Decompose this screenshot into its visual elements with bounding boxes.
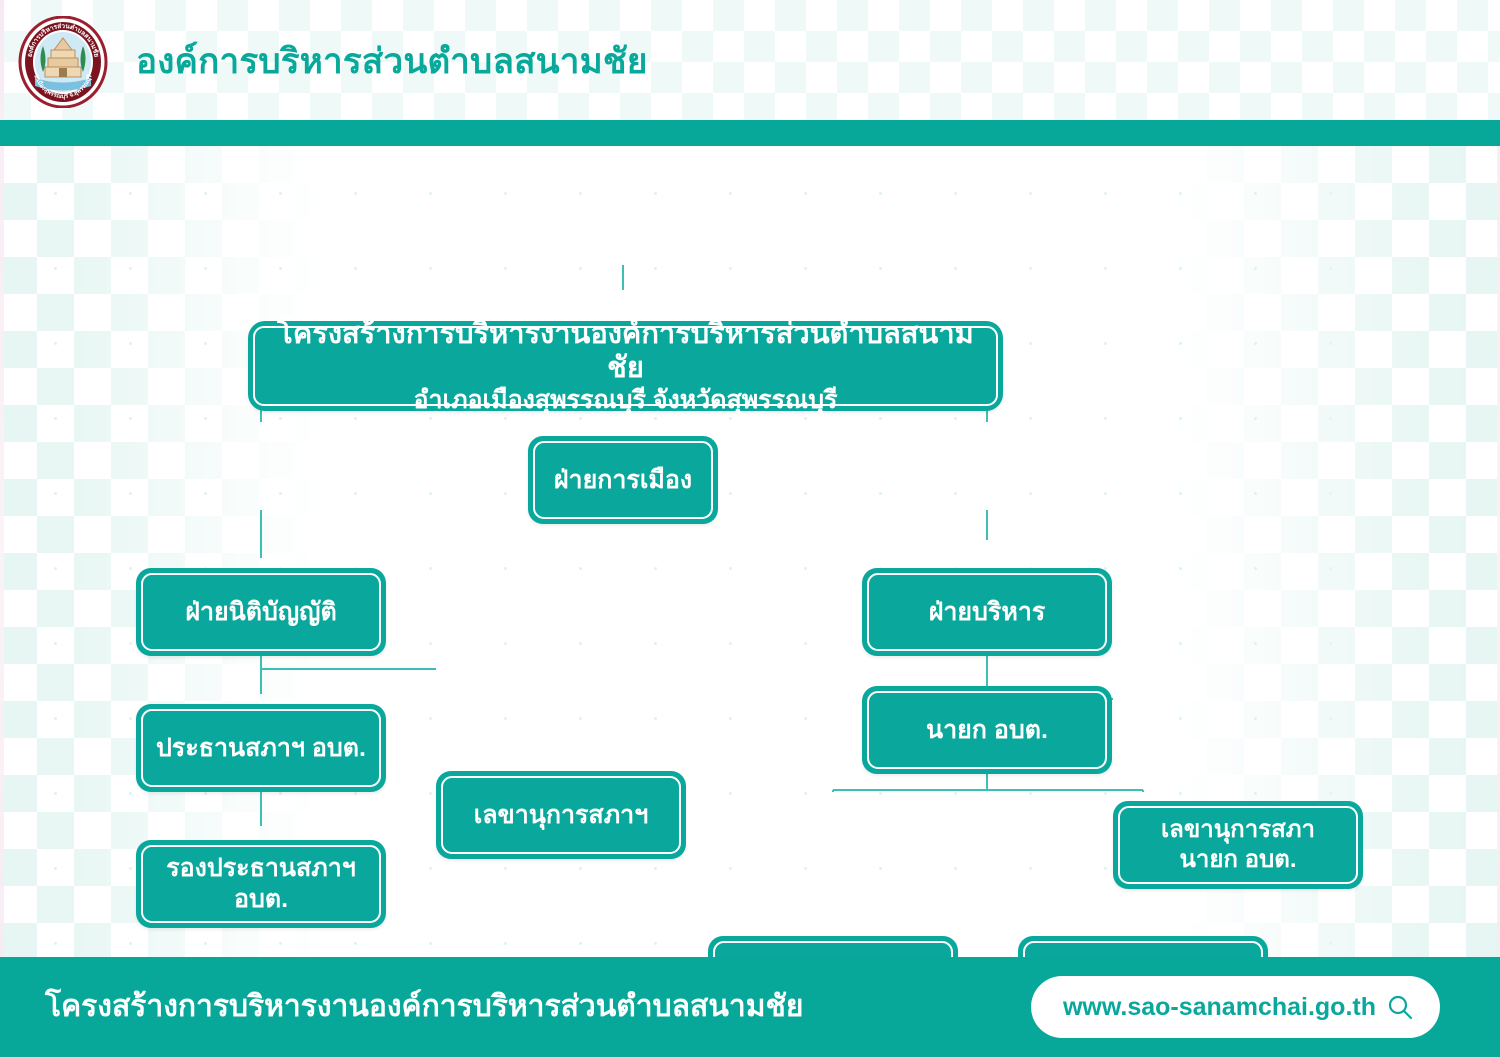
chart-title-line1: โครงสร้างการบริหารงานองค์การบริหารส่วนตำ… (268, 317, 983, 385)
node-mayor-label: นายก อบต. (862, 686, 1112, 774)
node-political-division-label: ฝ่ายการเมือง (528, 436, 718, 524)
chart-title-label: โครงสร้างการบริหารงานองค์การบริหารส่วนตำ… (248, 321, 1003, 411)
footer-title: โครงสร้างการบริหารงานองค์การบริหารส่วนตำ… (45, 987, 803, 1027)
node-vice-chairman[interactable]: รองประธานสภาฯ อบต. (136, 840, 386, 928)
node-council-chairman-label: ประธานสภาฯ อบต. (136, 704, 386, 792)
site-footer: โครงสร้างการบริหารงานองค์การบริหารส่วนตำ… (0, 957, 1500, 1057)
node-legislative-division[interactable]: ฝ่ายนิติบัญญัติ (136, 568, 386, 656)
footer-url-pill[interactable]: www.sao-sanamchai.go.th (1031, 976, 1440, 1038)
search-icon[interactable] (1386, 993, 1414, 1021)
node-executive-division-label: ฝ่ายบริหาร (862, 568, 1112, 656)
emblem-logo-icon[interactable]: องค์การบริหารส่วนตำบลสนามชัย อ.เมืองสุพร… (17, 16, 109, 108)
site-title: องค์การบริหารส่วนตำบลสนามชัย (136, 40, 648, 84)
node-political-division[interactable]: ฝ่ายการเมือง (528, 436, 718, 524)
node-council-secretary-label: เลขานุการสภาฯ (436, 771, 686, 859)
node-executive-division[interactable]: ฝ่ายบริหาร (862, 568, 1112, 656)
header-divider-bar (0, 120, 1500, 146)
node-council-secretary[interactable]: เลขานุการสภาฯ (436, 771, 686, 859)
header-left-edge-accent (0, 0, 4, 120)
node-deputy-mayor-1[interactable]: รองนายก อบต. (708, 936, 958, 957)
node-mayor-secretary[interactable]: เลขานุการสภา นายก อบต. (1113, 801, 1363, 889)
node-vice-chairman-label: รองประธานสภาฯ อบต. (136, 840, 386, 928)
footer-url-text: www.sao-sanamchai.go.th (1063, 992, 1376, 1022)
chart-title-node: โครงสร้างการบริหารงานองค์การบริหารส่วนตำ… (248, 321, 1003, 411)
node-deputy-mayor-2-label: รองนายก อบต. (1018, 936, 1268, 957)
node-deputy-mayor-1-label: รองนายก อบต. (708, 936, 958, 957)
page-root: องค์การบริหารส่วนตำบลสนามชัย อ.เมืองสุพร… (0, 0, 1500, 1057)
site-header: องค์การบริหารส่วนตำบลสนามชัย อ.เมืองสุพร… (0, 0, 1500, 120)
node-deputy-mayor-2[interactable]: รองนายก อบต. (1018, 936, 1268, 957)
chart-canvas: โครงสร้างการบริหารงานองค์การบริหารส่วนตำ… (0, 146, 1500, 957)
node-mayor[interactable]: นายก อบต. (862, 686, 1112, 774)
node-legislative-division-label: ฝ่ายนิติบัญญัติ (136, 568, 386, 656)
chart-title-line2: อำเภอเมืองสุพรรณบุรี จังหวัดสุพรรณบุรี (413, 385, 837, 415)
node-council-chairman[interactable]: ประธานสภาฯ อบต. (136, 704, 386, 792)
node-mayor-secretary-label: เลขานุการสภา นายก อบต. (1113, 801, 1363, 889)
